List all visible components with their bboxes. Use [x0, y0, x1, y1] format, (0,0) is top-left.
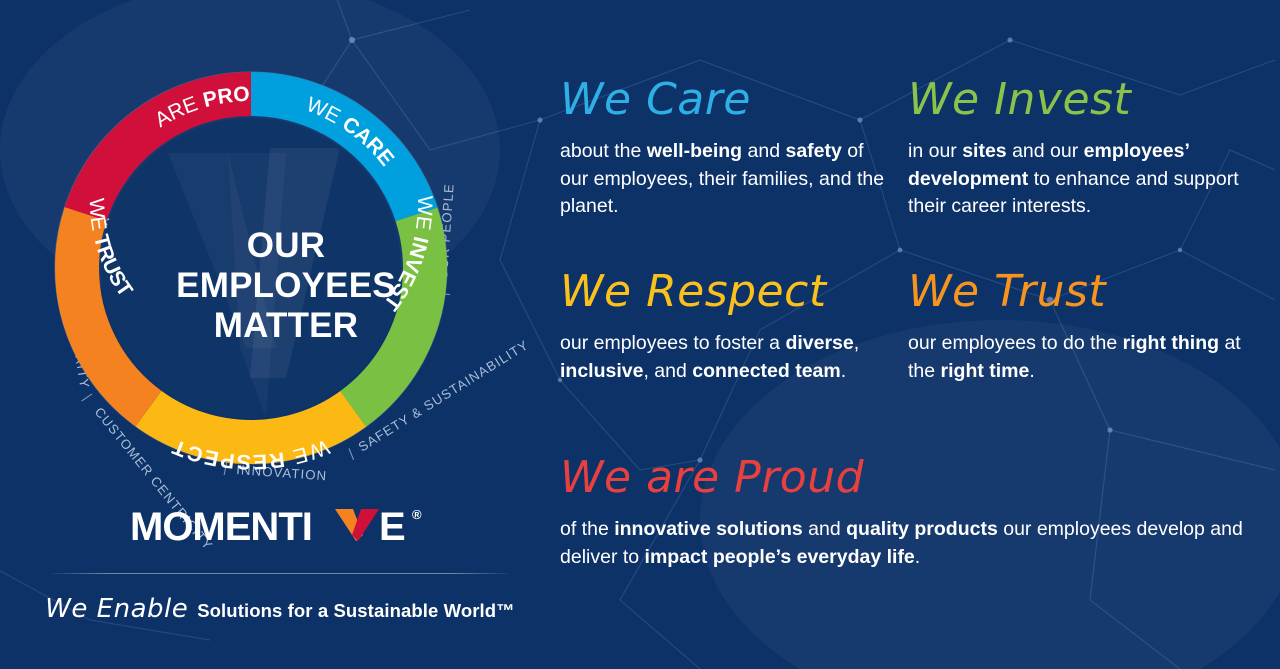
- panel-we-invest: We Invest in our sites and our employees…: [908, 78, 1248, 221]
- segment-label-invest-light: WE: [410, 195, 437, 239]
- panel-heading-we-trust: We Trust: [908, 270, 1248, 314]
- logo-chevron-v: [335, 509, 379, 541]
- tagline-bold-part: Solutions for a Sustainable World™: [197, 600, 515, 622]
- wheel-svg: CORE VALUES | INTEGRITY | CUSTOMER CENTR…: [18, 48, 518, 488]
- segment-label-proud-bold: PROUD: [10, 37, 251, 112]
- panel-heading-we-respect: We Respect: [560, 270, 890, 314]
- logo-text-momenti: MOMENTI: [130, 505, 312, 549]
- panel-we-are-proud: We are Proud of the innovative solutions…: [560, 456, 1250, 571]
- panel-we-care: We Care about the well-being and safety …: [560, 78, 890, 221]
- panel-body-we-invest: in our sites and our employees’ developm…: [908, 138, 1248, 221]
- panel-body-we-are-proud: of the innovative solutions and quality …: [560, 516, 1250, 571]
- brand-divider: [52, 573, 508, 574]
- panel-heading-we-invest: We Invest: [908, 78, 1248, 122]
- panel-body-we-care: about the well-being and safety of our e…: [560, 138, 890, 221]
- outer-separator-4: |: [347, 446, 356, 461]
- brand-block: MOMENTI E ® We Enable Solutions for a Su…: [40, 505, 520, 624]
- tagline-script-part: We Enable: [45, 594, 188, 624]
- outer-separator-2: |: [81, 391, 95, 402]
- infographic-page: CORE VALUES | INTEGRITY | CUSTOMER CENTR…: [0, 0, 1280, 669]
- panel-body-we-trust: our employees to do the right thing at t…: [908, 330, 1248, 385]
- core-values-wheel: CORE VALUES | INTEGRITY | CUSTOMER CENTR…: [18, 48, 518, 488]
- logo-registered-mark: ®: [412, 507, 422, 522]
- panel-body-we-respect: our employees to foster a diverse, inclu…: [560, 330, 890, 385]
- segment-label-proud-light: WE ARE: [8, 37, 207, 135]
- brand-tagline: We Enable Solutions for a Sustainable Wo…: [40, 594, 520, 624]
- momentive-logo: MOMENTI E ®: [40, 505, 520, 551]
- momentive-logo-svg: MOMENTI E ®: [130, 505, 430, 551]
- panel-we-respect: We Respect our employees to foster a div…: [560, 270, 890, 385]
- panel-we-trust: We Trust our employees to do the right t…: [908, 270, 1248, 385]
- logo-text-e: E: [379, 505, 405, 549]
- panel-heading-we-care: We Care: [560, 78, 890, 122]
- panel-heading-we-are-proud: We are Proud: [560, 456, 1250, 500]
- segment-label-trust-light: WE: [85, 198, 112, 239]
- values-panels: We Care about the well-being and safety …: [560, 78, 1260, 618]
